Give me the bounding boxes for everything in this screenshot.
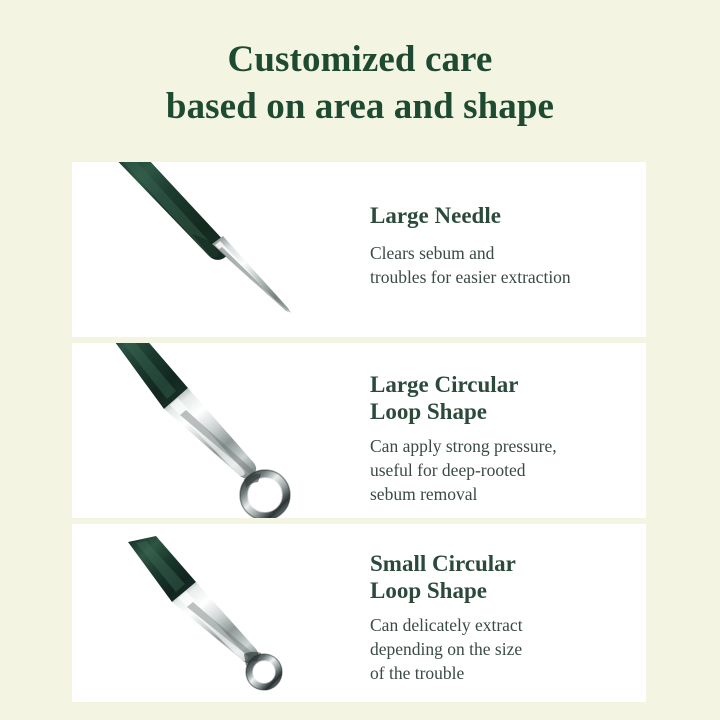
card-title: Large Needle xyxy=(370,202,634,229)
large-loop-illustration xyxy=(72,343,362,518)
feature-card-large-needle: Large Needle Clears sebum and troubles f… xyxy=(72,162,646,337)
card-title-line-2: Loop Shape xyxy=(370,577,634,604)
card-text-large-loop: Large Circular Loop Shape Can apply stro… xyxy=(362,343,646,518)
card-desc-line-3: of the trouble xyxy=(370,661,634,685)
loop-inner-highlight xyxy=(253,661,275,683)
card-title-line-1: Large Needle xyxy=(370,202,634,229)
card-desc-line-2: useful for deep-rooted xyxy=(370,458,634,482)
page-title-line-2: based on area and shape xyxy=(0,83,720,130)
feature-card-list: Large Needle Clears sebum and troubles f… xyxy=(72,162,646,702)
card-desc-line-1: Can delicately extract xyxy=(370,613,634,637)
small-loop-tool xyxy=(72,524,362,702)
card-desc-line-1: Can apply strong pressure, xyxy=(370,434,634,458)
card-title: Small Circular Loop Shape xyxy=(370,550,634,604)
card-desc-line-2: depending on the size xyxy=(370,637,634,661)
large-needle-illustration xyxy=(72,162,362,337)
card-desc-line-1: Clears sebum and xyxy=(370,241,634,265)
feature-card-small-loop: Small Circular Loop Shape Can delicately… xyxy=(72,524,646,702)
infographic-page: Customized care based on area and shape xyxy=(0,0,720,720)
small-loop-illustration xyxy=(72,524,362,702)
card-title: Large Circular Loop Shape xyxy=(370,371,634,425)
needle-shadow-edge xyxy=(218,247,289,312)
card-title-line-1: Small Circular xyxy=(370,550,634,577)
large-needle-tool xyxy=(72,162,362,337)
page-title: Customized care based on area and shape xyxy=(0,36,720,130)
card-title-line-2: Loop Shape xyxy=(370,398,634,425)
card-desc-line-2: troubles for easier extraction xyxy=(370,265,634,289)
card-description: Clears sebum and troubles for easier ext… xyxy=(370,241,634,289)
card-description: Can delicately extract depending on the … xyxy=(370,613,634,685)
large-loop-tool xyxy=(72,343,362,518)
card-title-line-1: Large Circular xyxy=(370,371,634,398)
card-text-small-loop: Small Circular Loop Shape Can delicately… xyxy=(362,524,646,702)
feature-card-large-loop: Large Circular Loop Shape Can apply stro… xyxy=(72,343,646,518)
card-text-large-needle: Large Needle Clears sebum and troubles f… xyxy=(362,162,646,337)
shaft-shadow xyxy=(180,410,253,475)
card-description: Can apply strong pressure, useful for de… xyxy=(370,434,634,506)
page-title-line-1: Customized care xyxy=(0,36,720,83)
card-desc-line-3: sebum removal xyxy=(370,482,634,506)
loop-ring xyxy=(250,658,279,687)
